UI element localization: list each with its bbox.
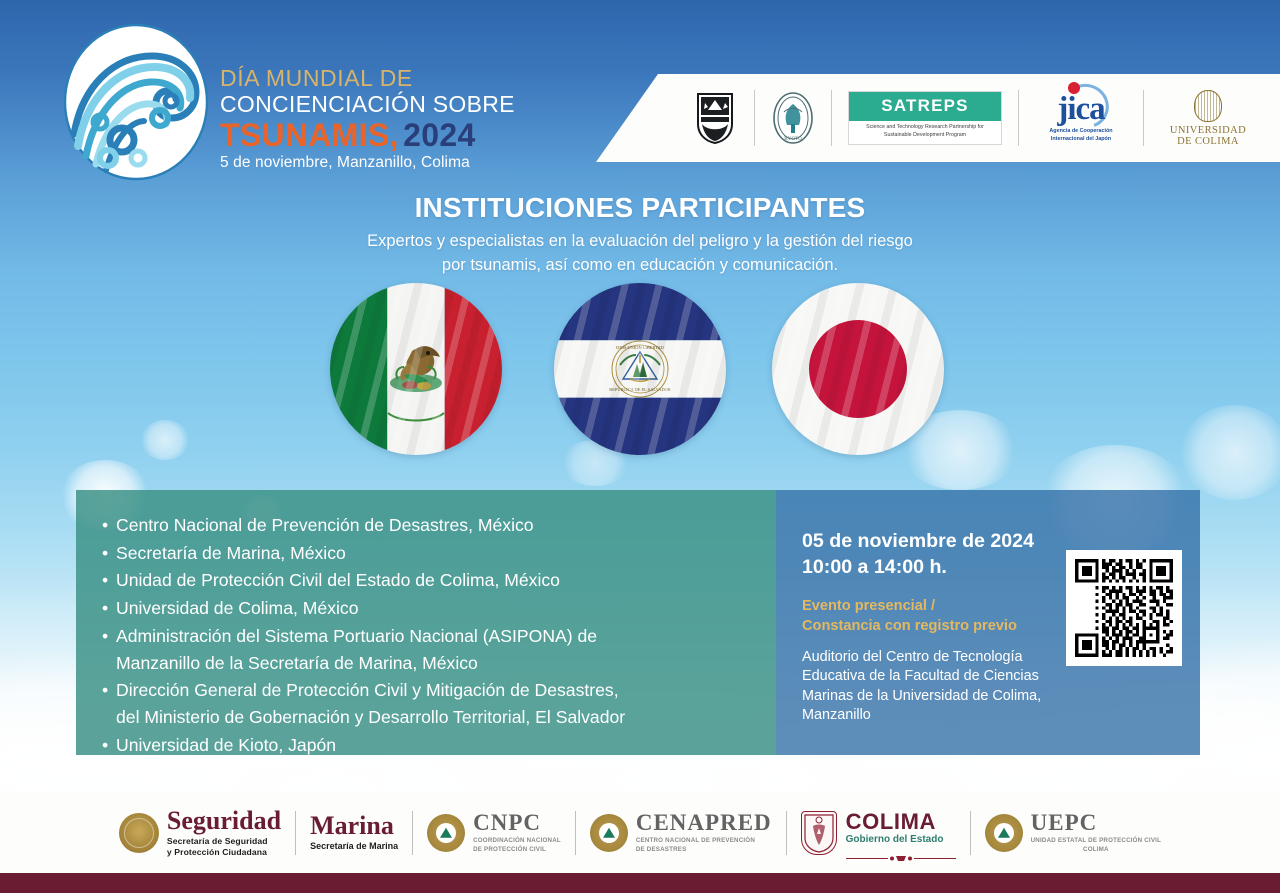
list-item: • Universidad de Kioto, Japón [102, 732, 758, 759]
brand-line-4: 5 de noviembre, Manzanillo, Colima [220, 154, 515, 172]
footer-logo-marina: Marina Secretaría de Marina [296, 805, 412, 861]
satreps-tagline: Science and Technology Research Partners… [849, 121, 1001, 144]
footer-logo-cnpc: CNPC COORDINACIÓN NACIONAL DE PROTECCIÓN… [413, 805, 575, 861]
seguridad-subtitle-line-2: y Protección Ciudadana [167, 847, 281, 858]
brand-year: 2024 [403, 117, 475, 153]
event-brand-block: DÍA MUNDIAL DE CONCIENCIACIÓN SOBRE TSUN… [60, 22, 515, 182]
jica-tagline: Agencia de Cooperación Internacional del… [1035, 128, 1127, 144]
jica-wordmark: jica [1057, 93, 1104, 126]
list-item: • Dirección General de Protección Civil … [102, 677, 758, 730]
institution-name-line-2: Manzanillo de la Secretaría de Marina, M… [116, 653, 478, 673]
brand-line-3: TSUNAMIS, 2024 [220, 119, 515, 153]
event-venue-line-1: Auditorio del Centro de Tecnología [802, 648, 1052, 668]
institutions-panel: • Centro Nacional de Prevención de Desas… [76, 490, 776, 755]
list-item: • Centro Nacional de Prevención de Desas… [102, 512, 758, 539]
cnpc-wordmark: CNPC [473, 811, 561, 834]
list-bullet: • [102, 677, 116, 730]
event-title-text: DÍA MUNDIAL DE CONCIENCIACIÓN SOBRE TSUN… [220, 22, 515, 172]
section-subtitle: Expertos y especialistas en la evaluació… [0, 230, 1280, 278]
cnpc-subtitle-line-1: COORDINACIÓN NACIONAL [473, 837, 561, 846]
marina-subtitle: Secretaría de Marina [310, 841, 398, 853]
brand-line-2: CONCIENCIACIÓN SOBRE [220, 92, 515, 118]
list-bullet: • [102, 512, 116, 539]
cnpc-subtitle-line-2: DE PROTECCIÓN CIVIL [473, 846, 561, 855]
section-subtitle-line-2: por tsunamis, así como en educación y co… [0, 254, 1280, 278]
spray-droplet [1180, 405, 1280, 500]
partner-logo-banner: KYOTO SATREPS Science and Technology Res… [596, 74, 1280, 162]
header-logo-universidad-de-colima: UNIVERSIDAD DE COLIMA [1144, 85, 1272, 151]
institution-name-line-2: del Ministerio de Gobernación y Desarrol… [116, 707, 625, 727]
kyoto-university-seal-icon: KYOTO [771, 91, 815, 145]
brand-keyword: TSUNAMIS, [220, 117, 399, 153]
section-title: INSTITUCIONES PARTICIPANTES [0, 192, 1280, 224]
registration-qr-code[interactable] [1066, 550, 1182, 666]
spray-droplet [140, 420, 190, 460]
proteccion-civil-seal-icon [590, 814, 628, 852]
uepc-wordmark: UEPC [1031, 811, 1161, 834]
mexican-eagle-seal-icon [119, 813, 159, 853]
header-logo-satreps: SATREPS Science and Technology Research … [832, 85, 1018, 151]
list-item: • Administración del Sistema Portuario N… [102, 623, 758, 676]
poster-canvas: DÍA MUNDIAL DE CONCIENCIACIÓN SOBRE TSUN… [0, 0, 1280, 893]
institution-name: Administración del Sistema Portuario Nac… [116, 623, 758, 676]
event-venue-line-4: Manzanillo [802, 706, 1052, 726]
flag-mexico [330, 283, 502, 455]
marina-wordmark: Marina [310, 813, 398, 838]
footer-logo-colima-gobierno: COLIMA Gobierno del Estado [787, 805, 970, 861]
list-bullet: • [102, 595, 116, 622]
universidad-de-colima-seal-icon: UNIVERSIDAD DE COLIMA [1160, 90, 1256, 147]
proteccion-civil-triangle-icon [440, 828, 452, 838]
institution-name: Dirección General de Protección Civil y … [116, 677, 758, 730]
seguridad-subtitle-line-1: Secretaría de Seguridad [167, 836, 281, 847]
list-item: • Unidad de Protección Civil del Estado … [102, 567, 758, 594]
footer-logo-cenapred: CENAPRED CENTRO NACIONAL DE PREVENCIÓN D… [576, 805, 786, 861]
colima-wordmark: COLIMA [846, 811, 956, 833]
list-item: • Universidad de Colima, México [102, 595, 758, 622]
institution-name-line-1: Administración del Sistema Portuario Nac… [116, 626, 597, 646]
colima-state-shield-icon [801, 811, 837, 855]
event-venue: Auditorio del Centro de Tecnología Educa… [802, 648, 1052, 726]
bottom-accent-bar [0, 873, 1280, 893]
event-venue-line-2: Educativa de la Facultad de Ciencias [802, 667, 1052, 687]
brand-line-1: DÍA MUNDIAL DE [220, 66, 515, 92]
institution-name: Unidad de Protección Civil del Estado de… [116, 567, 758, 594]
ucol-crest-icon [1194, 90, 1222, 122]
proteccion-civil-triangle-icon [998, 828, 1010, 838]
flag-el-salvador: DIOS UNION LIBERTAD REPUBLICA DE EL SALV… [554, 283, 726, 455]
cenapred-subtitle-line-2: DE DESASTRES [636, 846, 772, 855]
header-logo-unam [676, 85, 754, 151]
list-bullet: • [102, 567, 116, 594]
seguridad-wordmark: Seguridad [167, 808, 281, 833]
event-venue-line-3: Marinas de la Universidad de Colima, [802, 687, 1052, 707]
cenapred-subtitle-line-1: CENTRO NACIONAL DE PREVENCIÓN [636, 837, 772, 846]
jica-icon: jica Agencia de Cooperación Internaciona… [1035, 93, 1127, 144]
svg-text:REPUBLICA DE EL SALVADOR: REPUBLICA DE EL SALVADOR [609, 387, 671, 392]
proteccion-civil-seal-icon [427, 814, 465, 852]
cenapred-wordmark: CENAPRED [636, 811, 772, 834]
colima-ornament [846, 849, 956, 856]
list-bullet: • [102, 732, 116, 759]
header-logo-kyoto-university: KYOTO [755, 85, 831, 151]
satreps-icon: SATREPS Science and Technology Research … [848, 91, 1002, 145]
section-subtitle-line-1: Expertos y especialistas en la evaluació… [0, 230, 1280, 254]
list-item: • Secretaría de Marina, México [102, 540, 758, 567]
uepc-subtitle-line-2: COLIMA [1031, 846, 1161, 855]
tsunami-wave-logo-icon [60, 22, 212, 182]
colima-subtitle: Gobierno del Estado [846, 834, 956, 846]
institution-name: Universidad de Kioto, Japón [116, 732, 758, 759]
svg-text:DIOS UNION LIBERTAD: DIOS UNION LIBERTAD [616, 345, 664, 350]
unam-shield-icon [692, 91, 738, 145]
header-logo-jica: jica Agencia de Cooperación Internaciona… [1019, 85, 1143, 151]
institution-name-line-1: Dirección General de Protección Civil y … [116, 680, 619, 700]
uepc-subtitle-line-1: UNIDAD ESTATAL DE PROTECCIÓN CIVIL [1031, 837, 1161, 846]
institution-name: Secretaría de Marina, México [116, 540, 758, 567]
ucol-line-1: UNIVERSIDAD [1160, 125, 1256, 136]
qr-code-icon [1075, 559, 1173, 657]
ucol-line-2: DE COLIMA [1160, 136, 1256, 147]
flag-japan [772, 283, 944, 455]
svg-text:KYOTO: KYOTO [784, 137, 802, 142]
proteccion-civil-triangle-icon [603, 828, 615, 838]
participating-country-flags: DIOS UNION LIBERTAD REPUBLICA DE EL SALV… [330, 283, 950, 455]
institution-name: Centro Nacional de Prevención de Desastr… [116, 512, 758, 539]
list-bullet: • [102, 540, 116, 567]
event-details-panel: 05 de noviembre de 2024 10:00 a 14:00 h.… [776, 490, 1200, 755]
satreps-wordmark: SATREPS [849, 92, 1001, 121]
footer-logo-seguridad: Seguridad Secretaría de Seguridad y Prot… [105, 805, 295, 861]
institution-name: Universidad de Colima, México [116, 595, 758, 622]
proteccion-civil-seal-icon [985, 814, 1023, 852]
footer-logo-uepc: UEPC UNIDAD ESTATAL DE PROTECCIÓN CIVIL … [971, 805, 1175, 861]
list-bullet: • [102, 623, 116, 676]
institutions-list: • Centro Nacional de Prevención de Desas… [76, 490, 776, 759]
